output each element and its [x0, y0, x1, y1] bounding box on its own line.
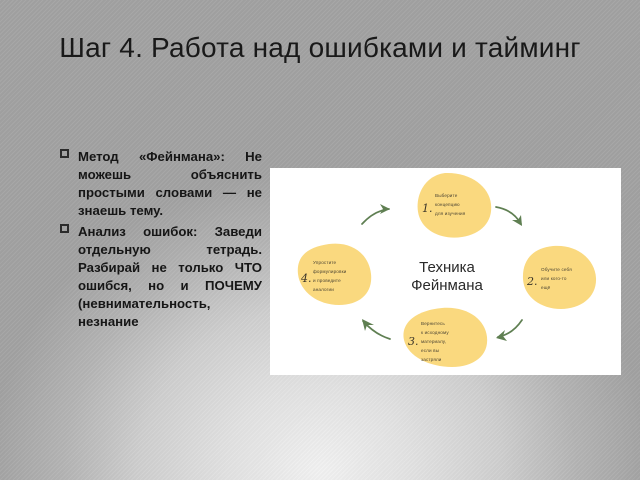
step-number-4: 4.: [300, 272, 312, 285]
slide-canvas: Шаг 4. Работа над ошибками и тайминг Мет…: [0, 0, 640, 480]
list-item: Метод «Фейнмана»: Не можешь объяснить пр…: [60, 148, 262, 220]
bullet-list: Метод «Фейнмана»: Не можешь объяснить пр…: [60, 148, 262, 334]
step-number-2: 2.: [526, 275, 538, 288]
step-line-1-2: концепцию: [435, 202, 460, 207]
step-line-3-1: Вернитесь: [421, 321, 445, 326]
step-line-1-3: для изучения: [435, 211, 466, 216]
arrow-icon-upper-right: [496, 207, 522, 226]
arrow-icon-lower-right: [496, 320, 522, 341]
page-title: Шаг 4. Работа над ошибками и тайминг: [46, 30, 594, 66]
diagram-step-4: 4. Упростите формулировки и проведите ан…: [298, 244, 371, 305]
step-line-2-3: ещё: [541, 285, 551, 290]
step-line-2-2: или кого-то: [541, 276, 567, 281]
step-line-3-3: материалу,: [421, 339, 446, 344]
step-line-4-2: формулировки: [313, 269, 347, 274]
step-line-3-5: застряли: [421, 357, 442, 362]
list-item: Анализ ошибок: Заведи отдельную тетрадь.…: [60, 223, 262, 331]
square-bullet-icon: [60, 224, 69, 233]
arrow-icon-lower-left: [362, 319, 390, 339]
list-item-text: Анализ ошибок: Заведи отдельную тетрадь.…: [78, 224, 262, 329]
step-line-2-1: Обучите себя: [541, 267, 572, 272]
list-item-text: Метод «Фейнмана»: Не можешь объяснить пр…: [78, 149, 262, 218]
diagram-center-line-2: Фейнмана: [411, 277, 483, 294]
arrow-icon-upper-left: [362, 204, 390, 224]
diagram-step-3: 3. Вернитесь к исходному материалу, если…: [403, 308, 487, 367]
diagram-step-2: 2. Обучите себя или кого-то ещё: [523, 246, 596, 309]
step-line-3-4: если вы: [421, 348, 439, 353]
step-line-1-1: Выберите: [435, 193, 458, 198]
feynman-technique-diagram: 1. Выберите концепцию для изучения 2. Об…: [270, 168, 621, 375]
step-number-1: 1.: [422, 202, 433, 215]
step-line-4-1: Упростите: [313, 260, 337, 265]
diagram-step-1: 1. Выберите концепцию для изучения: [418, 173, 492, 238]
step-number-3: 3.: [408, 335, 419, 348]
square-bullet-icon: [60, 149, 69, 158]
step-line-4-3: и проведите: [313, 278, 341, 283]
diagram-center-line-1: Техника: [419, 259, 475, 276]
step-line-4-4: аналогии: [313, 287, 334, 292]
step-line-3-2: к исходному: [421, 330, 449, 335]
